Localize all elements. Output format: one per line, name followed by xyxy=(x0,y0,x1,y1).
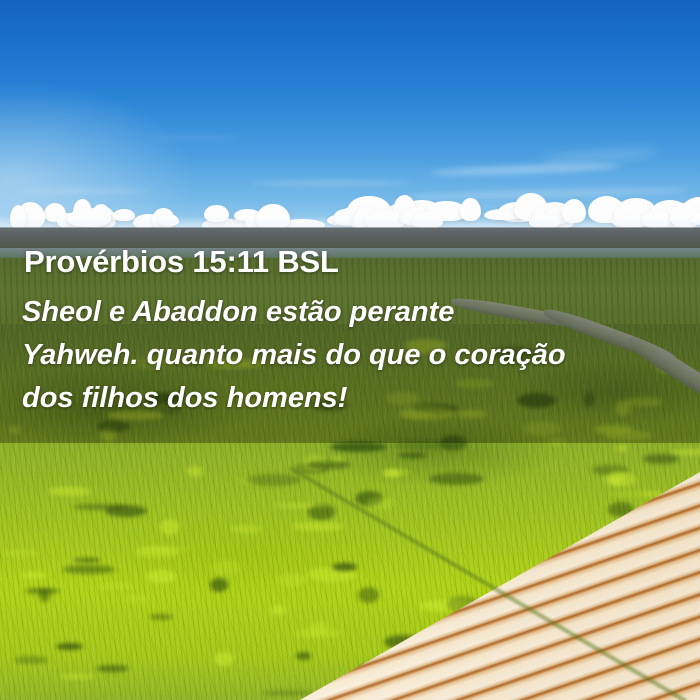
grass-tuft xyxy=(367,497,395,509)
grass-tuft xyxy=(211,560,241,575)
verse-line: dos filhos dos homens! xyxy=(22,377,698,420)
verse-line: Sheol e Abaddon estão perante xyxy=(22,291,698,334)
grass-tuft xyxy=(429,473,484,485)
grass-tuft xyxy=(273,503,330,508)
grass-tuft xyxy=(271,605,286,614)
verse-body: Sheol e Abaddon estão perante Yahweh. qu… xyxy=(22,291,698,420)
grass-tuft xyxy=(73,504,126,510)
grass-tuft xyxy=(230,525,262,533)
grass-tuft xyxy=(146,570,176,583)
grass-tuft xyxy=(296,652,311,660)
grass-tuft xyxy=(332,563,357,571)
grass-tuft xyxy=(643,454,678,464)
grass-tuft xyxy=(2,549,40,556)
grass-tuft xyxy=(72,558,100,562)
cirrus-cloud xyxy=(250,180,410,186)
verse-reference: Provérbios 15:11 BSL xyxy=(24,246,339,277)
grass-tuft xyxy=(358,587,379,603)
grass-tuft xyxy=(307,461,350,469)
grass-tuft xyxy=(39,589,50,601)
grass-tuft xyxy=(210,578,229,592)
grass-tuft xyxy=(125,594,148,604)
grass-tuft xyxy=(140,546,190,553)
cirrus-cloud xyxy=(150,135,240,140)
grass-tuft xyxy=(277,573,307,586)
verse-image-canvas: Provérbios 15:11 BSL Sheol e Abaddon est… xyxy=(0,0,700,700)
grass-tuft xyxy=(48,487,90,496)
grass-tuft xyxy=(21,572,48,579)
grass-tuft xyxy=(214,652,234,666)
verse-text-block: Provérbios 15:11 BSL Sheol e Abaddon est… xyxy=(0,227,700,443)
grass-tuft xyxy=(670,449,700,455)
grass-tuft xyxy=(246,474,302,486)
grass-tuft xyxy=(616,444,627,452)
verse-line: Yahweh. quanto mais do que o coração xyxy=(22,334,698,377)
grass-tuft xyxy=(330,442,387,452)
